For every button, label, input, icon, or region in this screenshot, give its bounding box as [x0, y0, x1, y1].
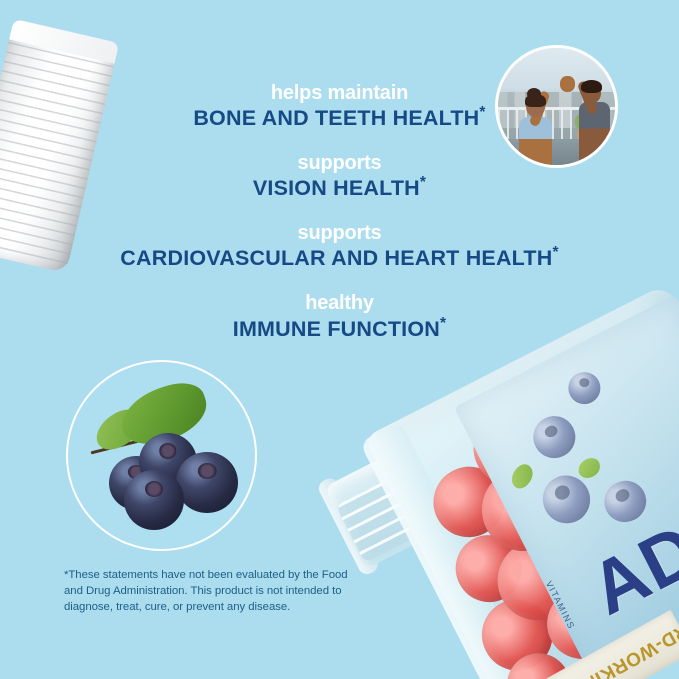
claim-pre-text: healthy [0, 292, 679, 315]
claim-main-label: VISION HEALTH [253, 176, 420, 200]
label-leaf-graphic [576, 456, 602, 479]
claim-main-label: IMMUNE FUNCTION [233, 317, 440, 341]
claim-pre-text: supports [0, 222, 679, 245]
disclaimer-line-1: *These statements have not been evaluate… [64, 567, 394, 583]
claim-asterisk: * [479, 104, 485, 121]
fda-disclaimer: *These statements have not been evaluate… [64, 567, 394, 616]
claim-pre-text: supports [0, 152, 679, 175]
product-bottle: VITAMINS ADK Gummies HARD-WORKING GUMMIE… [316, 290, 679, 679]
claim-asterisk: * [420, 174, 426, 191]
claim-vision-health: supports VISION HEALTH* [0, 152, 679, 203]
claim-main-text: VISION HEALTH* [0, 175, 679, 203]
benefit-claims-list: helps maintain BONE AND TEETH HEALTH* su… [0, 82, 679, 344]
claim-main-text: BONE AND TEETH HEALTH* [0, 105, 679, 133]
claim-asterisk: * [440, 314, 446, 331]
claim-pre-text: helps maintain [0, 82, 679, 105]
disclaimer-line-3: diagnose, treat, cure, or prevent any di… [64, 599, 394, 615]
claim-main-label: BONE AND TEETH HEALTH [193, 106, 479, 130]
disclaimer-line-2: and Drug Administration. This product is… [64, 583, 394, 599]
label-blueberry-graphic [526, 409, 582, 465]
blueberry-photo-circle [68, 362, 255, 549]
blueberry [176, 452, 238, 514]
product-marketing-image: helps maintain BONE AND TEETH HEALTH* su… [0, 0, 679, 679]
label-blueberry-graphic [568, 371, 601, 404]
claim-cardiovascular-and-heart: supports CARDIOVASCULAR AND HEART HEALTH… [0, 222, 679, 273]
label-leaf-graphic [507, 461, 538, 492]
claim-asterisk: * [552, 244, 558, 261]
blueberry [124, 470, 184, 530]
claim-main-text: CARDIOVASCULAR AND HEART HEALTH* [0, 245, 679, 273]
claim-main-label: CARDIOVASCULAR AND HEART HEALTH [120, 246, 552, 270]
claim-bone-and-teeth: helps maintain BONE AND TEETH HEALTH* [0, 82, 679, 133]
